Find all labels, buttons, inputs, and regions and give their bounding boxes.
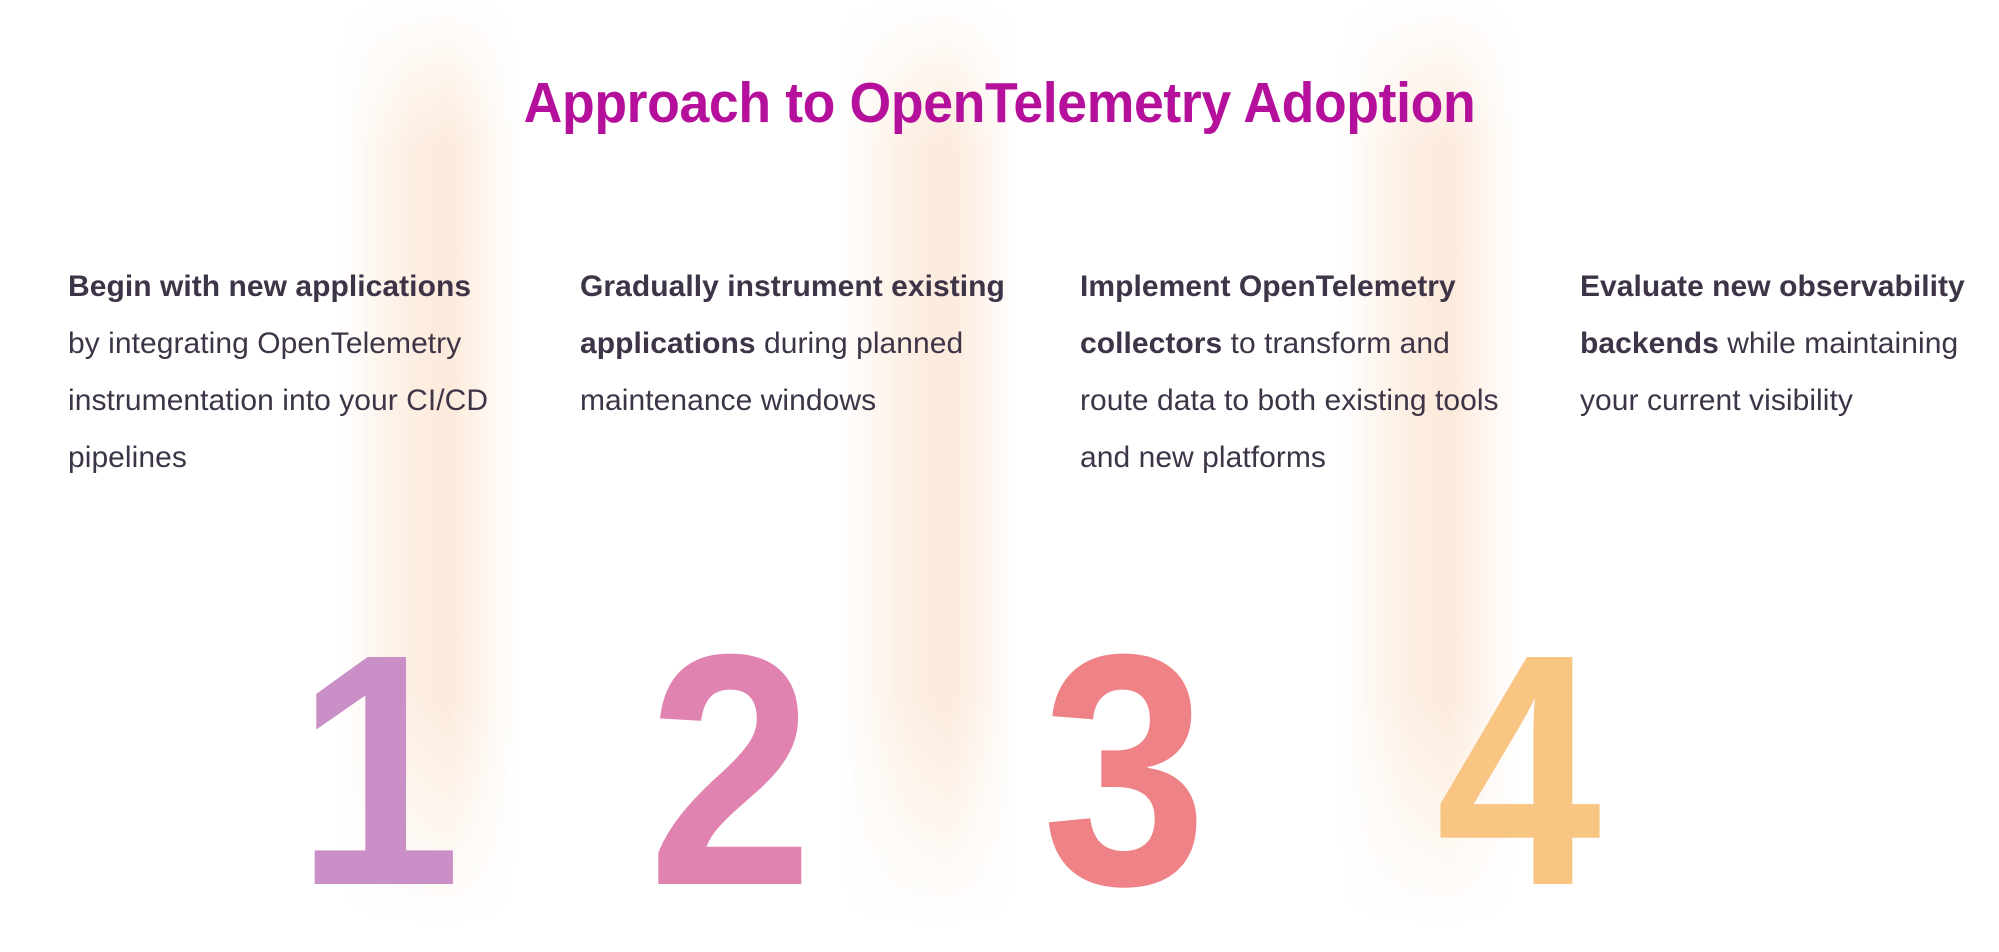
background-fade-bottom <box>0 692 1999 952</box>
step-column-1: Begin with new applications by integrati… <box>68 258 498 486</box>
step-number-3: 3 <box>1042 630 1202 910</box>
step-column-3: Implement OpenTelemetry collectors to tr… <box>1080 258 1510 486</box>
step-lead-1: Begin with new applications <box>68 270 471 303</box>
page-title: Approach to OpenTelemetry Adoption <box>60 66 1939 140</box>
step-column-2: Gradually instrument existing applicatio… <box>580 258 1010 429</box>
step-column-4: Evaluate new observability backends whil… <box>1580 258 1999 429</box>
step-rest-1: by integrating OpenTelemetry instrumenta… <box>68 327 488 474</box>
step-number-2: 2 <box>648 630 808 910</box>
slide-canvas: 1 2 3 4 Approach to OpenTelemetry Adopti… <box>0 0 1999 952</box>
step-number-1: 1 <box>296 630 456 910</box>
steps-columns: Begin with new applications by integrati… <box>0 258 1999 598</box>
step-number-4: 4 <box>1436 630 1596 910</box>
